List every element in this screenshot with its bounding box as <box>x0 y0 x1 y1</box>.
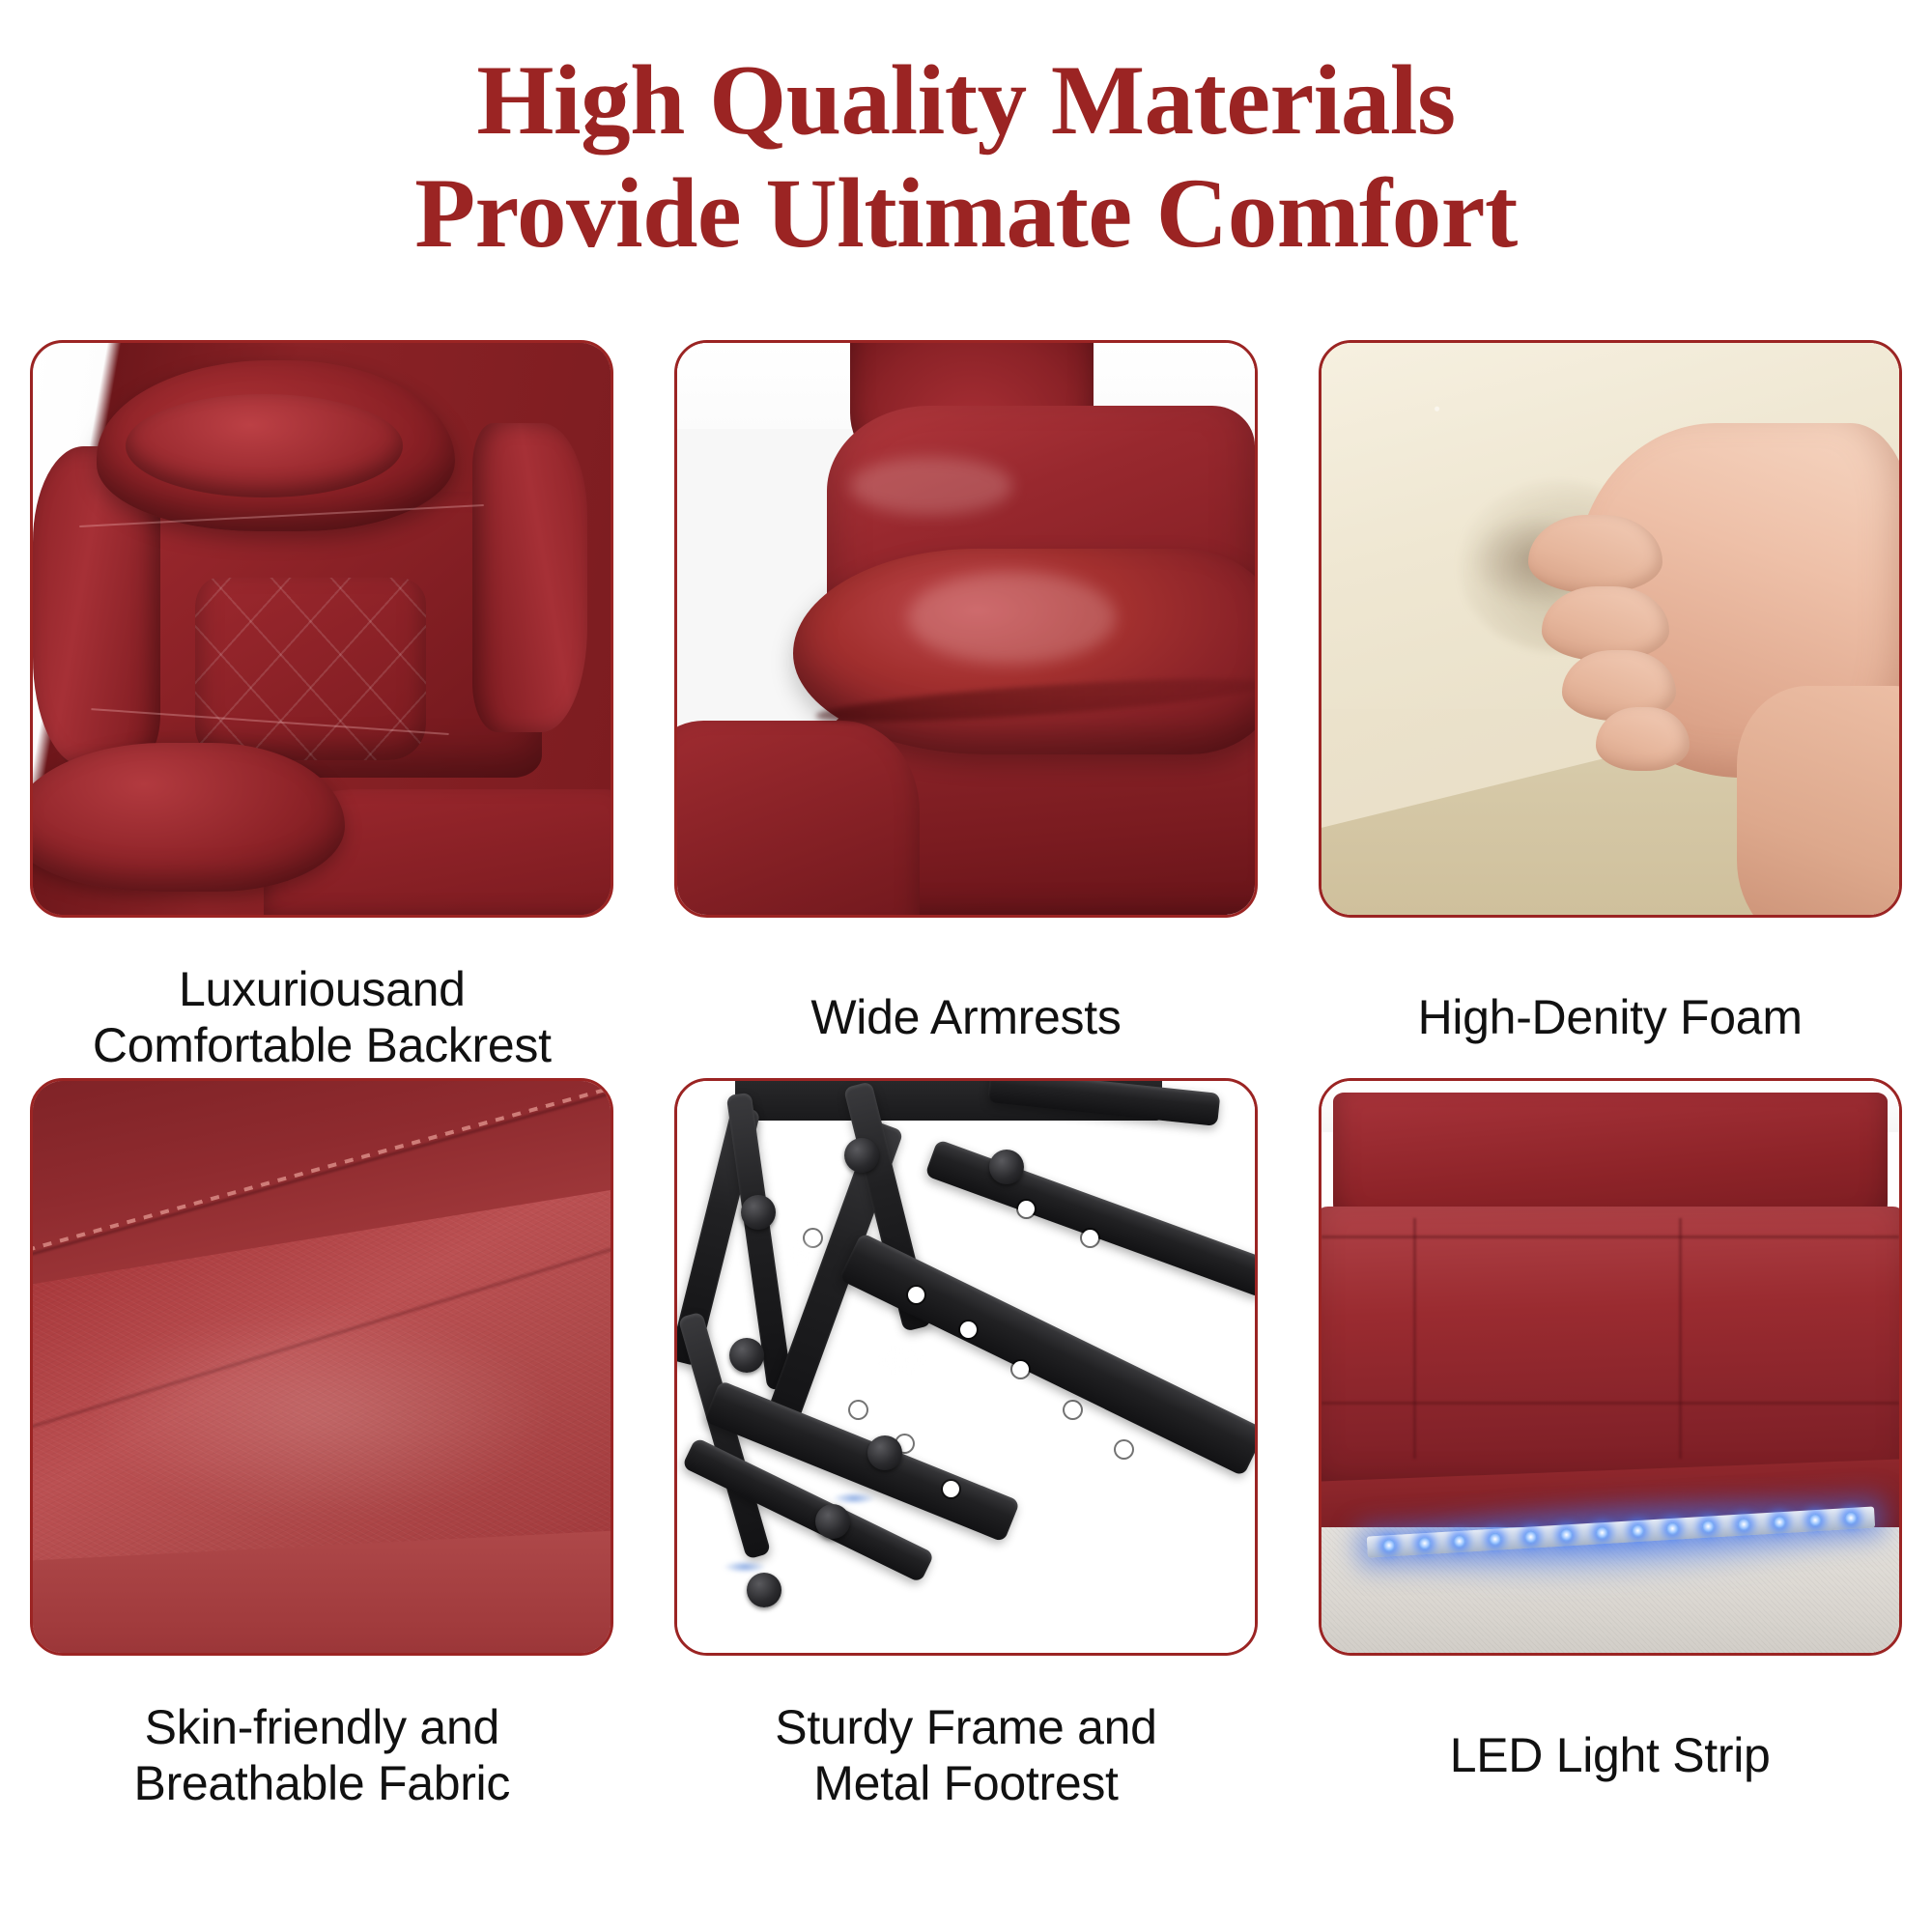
feature-cell-led: LED Light Strip <box>1288 1078 1932 1816</box>
leather-fabric-closeup-photo <box>33 1081 611 1653</box>
feature-caption-backrest: Luxuriousand Comfortable Backrest <box>30 956 613 1078</box>
feature-caption-frame: Sturdy Frame and Metal Footrest <box>674 1694 1258 1816</box>
feature-cell-frame: Sturdy Frame and Metal Footrest <box>644 1078 1289 1816</box>
feature-cell-backrest: Luxuriousand Comfortable Backrest <box>0 340 644 1078</box>
feature-grid: Luxuriousand Comfortable Backrest <box>0 340 1932 1816</box>
high-density-foam-hand-press-photo <box>1321 343 1899 915</box>
caption-line-2: Breathable Fabric <box>30 1755 613 1811</box>
feature-card-frame <box>674 1078 1258 1656</box>
metal-frame-footrest-mechanism-photo <box>677 1081 1255 1653</box>
caption-line-2: Metal Footrest <box>674 1755 1258 1811</box>
caption-line-1: Wide Armrests <box>674 989 1258 1045</box>
title-line-1: High Quality Materials <box>0 44 1932 157</box>
title-line-2: Provide Ultimate Comfort <box>0 157 1932 270</box>
infographic-page: High Quality Materials Provide Ultimate … <box>0 0 1932 1932</box>
feature-card-foam <box>1319 340 1902 918</box>
caption-line-1: Luxuriousand <box>30 961 613 1017</box>
feature-card-fabric <box>30 1078 613 1656</box>
feature-card-armrests <box>674 340 1258 918</box>
caption-line-1: Skin-friendly and <box>30 1699 613 1755</box>
feature-caption-fabric: Skin-friendly and Breathable Fabric <box>30 1694 613 1816</box>
feature-card-backrest <box>30 340 613 918</box>
caption-line-2: Comfortable Backrest <box>30 1017 613 1073</box>
page-title: High Quality Materials Provide Ultimate … <box>0 0 1932 270</box>
feature-card-led <box>1319 1078 1902 1656</box>
feature-caption-led: LED Light Strip <box>1319 1694 1902 1816</box>
quilted-leather-backrest-photo <box>33 343 611 915</box>
feature-cell-armrests: Wide Armrests <box>644 340 1289 1078</box>
caption-line-1: High-Denity Foam <box>1319 989 1902 1045</box>
feature-caption-armrests: Wide Armrests <box>674 956 1258 1078</box>
caption-line-1: LED Light Strip <box>1319 1727 1902 1783</box>
feature-cell-fabric: Skin-friendly and Breathable Fabric <box>0 1078 644 1816</box>
caption-line-1: Sturdy Frame and <box>674 1699 1258 1755</box>
feature-caption-foam: High-Denity Foam <box>1319 956 1902 1078</box>
led-light-strip-photo <box>1321 1081 1899 1653</box>
wide-armrest-photo <box>677 343 1255 915</box>
feature-cell-foam: High-Denity Foam <box>1288 340 1932 1078</box>
